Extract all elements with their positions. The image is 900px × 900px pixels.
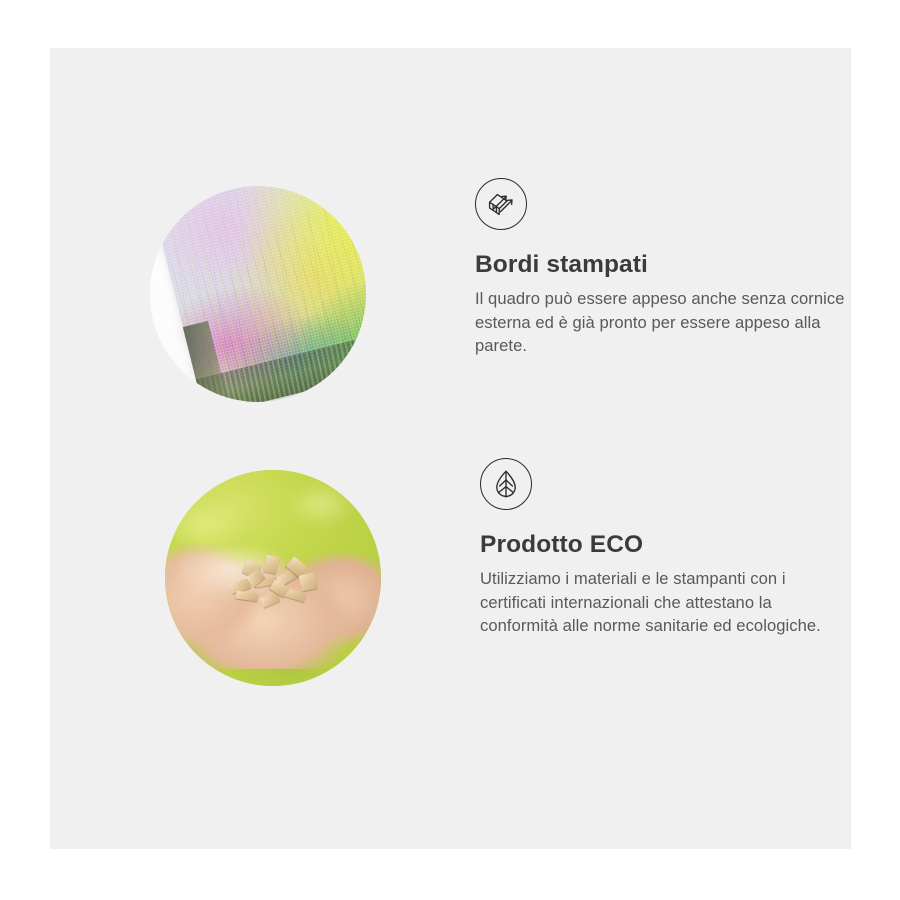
feature-title: Bordi stampati <box>475 252 847 279</box>
leaf-glyph <box>489 467 523 501</box>
content-panel: Bordi stampati Il quadro può essere appe… <box>50 48 851 849</box>
canvas-wrapped-edge-glyph <box>484 187 518 221</box>
feature-copy-eco-product: Prodotto ECO Utilizziamo i materiali e l… <box>480 458 852 638</box>
feature-description: Utilizziamo i materiali e le stampanti c… <box>480 567 852 638</box>
feature-title: Prodotto ECO <box>480 532 852 559</box>
leaf-icon <box>480 458 532 510</box>
wood-chips-pile <box>223 552 327 617</box>
feature-copy-printed-edges: Bordi stampati Il quadro può essere appe… <box>475 178 847 358</box>
canvas-corner-photo <box>150 186 366 402</box>
product-info-page: Bordi stampati Il quadro può essere appe… <box>0 0 900 900</box>
eco-wood-chips-photo <box>165 470 381 686</box>
feature-description: Il quadro può essere appeso anche senza … <box>475 287 847 358</box>
canvas-wrapped-edge-icon <box>475 178 527 230</box>
